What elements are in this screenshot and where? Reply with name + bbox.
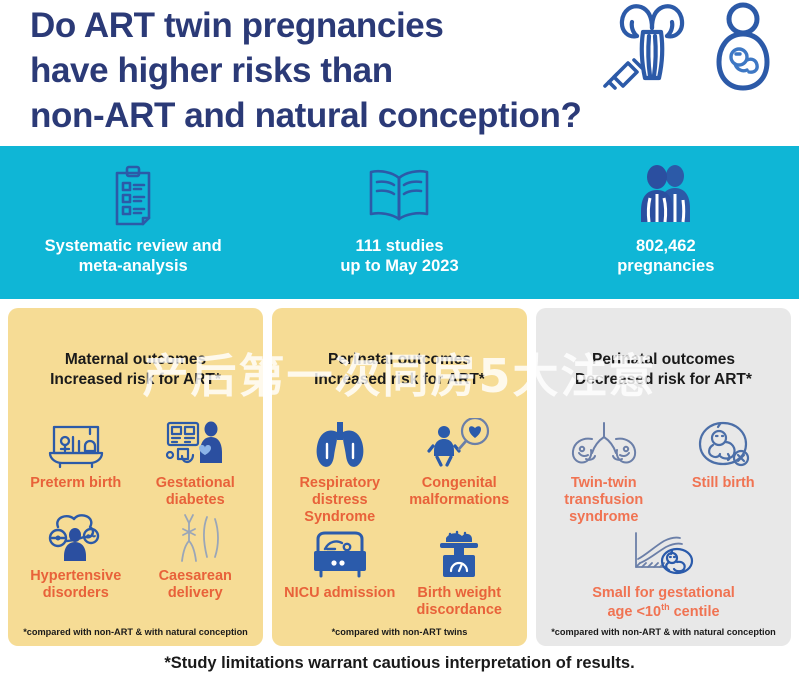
page-title-line-1: Do ART twin pregnancies: [30, 4, 630, 49]
two-people-icon: [638, 164, 694, 226]
infographic-page: Do ART twin pregnancies have higher risk…: [0, 0, 799, 684]
page-title-line-3: non-ART and natural conception?: [30, 94, 630, 139]
pregnant-woman-icon: [713, 2, 773, 97]
outcome-label: Respiratory distress Syndrome: [282, 475, 398, 526]
panel-perinatal-increased: Perinatal outcomes Increased risk for AR…: [272, 308, 527, 646]
outcome-label: Twin-twin transfusion syndrome: [564, 475, 643, 526]
stat-label: 802,462 pregnancies: [617, 236, 714, 276]
outcome-respiratory-distress-syndrome: Respiratory distress Syndrome: [280, 418, 400, 526]
weighing-scale-icon: [430, 528, 488, 580]
outcome-small-for-gestational-age: Small for gestational age <10th centile: [544, 528, 783, 621]
header-icon-group: [597, 2, 777, 94]
header: Do ART twin pregnancies have higher risk…: [0, 0, 799, 145]
stat-systematic-review: Systematic review and meta-analysis: [0, 146, 266, 299]
panel-title: Maternal outcomes Increased risk for ART…: [16, 350, 255, 390]
outcome-caesarean-delivery: Caesarean delivery: [136, 511, 256, 602]
stat-studies: 111 studies up to May 2023: [266, 146, 532, 299]
outcome-label: NICU admission: [284, 585, 395, 602]
open-book-icon: [366, 164, 432, 226]
sga-label-post: centile: [670, 604, 720, 620]
outcome-panels: Maternal outcomes Increased risk for ART…: [0, 308, 799, 646]
caesarean-scar-icon: [167, 511, 223, 563]
panel-footnote: *compared with non-ART twins: [280, 627, 519, 640]
page-title: Do ART twin pregnancies have higher risk…: [30, 4, 630, 138]
panel-title: Perinatal outcomes Decreased risk for AR…: [544, 350, 783, 390]
study-limitations-note: *Study limitations warrant cautious inte…: [0, 654, 799, 673]
outcome-label: Preterm birth: [30, 475, 121, 492]
baby-heart-scan-icon: [427, 418, 491, 470]
outcome-label: Gestational diabetes: [156, 475, 235, 509]
panel-maternal-outcomes: Maternal outcomes Increased risk for ART…: [8, 308, 263, 646]
outcome-twin-twin-transfusion-syndrome: Twin-twin transfusion syndrome: [544, 418, 664, 526]
incubator-icon: [46, 418, 106, 470]
clipboard-checklist-icon: [107, 164, 159, 226]
outcome-gestational-diabetes: Gestational diabetes: [136, 418, 256, 509]
outcome-preterm-birth: Preterm birth: [16, 418, 136, 509]
uterus-syringe-icon: [597, 2, 707, 99]
outcome-label: Hypertensive disorders: [30, 568, 121, 602]
outcome-label: Birth weight discordance: [417, 585, 502, 619]
growth-chart-baby-icon: [626, 528, 702, 580]
sga-label-sup: th: [661, 602, 670, 612]
panel-items: Respiratory distress Syndrome: [280, 418, 519, 627]
panel-items: Twin-twin transfusion syndrome: [544, 418, 783, 627]
page-title-line-2: have higher risks than: [30, 49, 630, 94]
stat-pregnancies: 802,462 pregnancies: [533, 146, 799, 299]
outcome-nicu-admission: NICU admission: [280, 528, 400, 619]
blood-pressure-icon: [44, 511, 108, 563]
outcome-label: Congenital malformations: [409, 475, 509, 509]
outcome-still-birth: Still birth: [664, 418, 784, 526]
outcome-birth-weight-discordance: Birth weight discordance: [400, 528, 520, 619]
stats-band: Systematic review and meta-analysis 11: [0, 146, 799, 299]
panel-title: Perinatal outcomes Increased risk for AR…: [280, 350, 519, 390]
outcome-hypertensive-disorders: Hypertensive disorders: [16, 511, 136, 602]
outcome-label: Still birth: [692, 475, 755, 492]
panel-perinatal-decreased: Perinatal outcomes Decreased risk for AR…: [536, 308, 791, 646]
glucose-monitor-icon: [164, 418, 226, 470]
twin-fetuses-icon: [568, 418, 640, 470]
outcome-label: Caesarean delivery: [159, 568, 232, 602]
lungs-icon: [311, 418, 369, 470]
stat-label: Systematic review and meta-analysis: [45, 236, 222, 276]
panel-footnote: *compared with non-ART & with natural co…: [544, 627, 783, 640]
stat-label: 111 studies up to May 2023: [340, 236, 458, 276]
outcome-congenital-malformations: Congenital malformations: [400, 418, 520, 526]
panel-footnote: *compared with non-ART & with natural co…: [16, 627, 255, 640]
nicu-cot-icon: [309, 528, 371, 580]
stillbirth-icon: [694, 418, 752, 470]
panel-items: Preterm birth: [16, 418, 255, 627]
outcome-label: Small for gestational age <10th centile: [592, 585, 735, 621]
